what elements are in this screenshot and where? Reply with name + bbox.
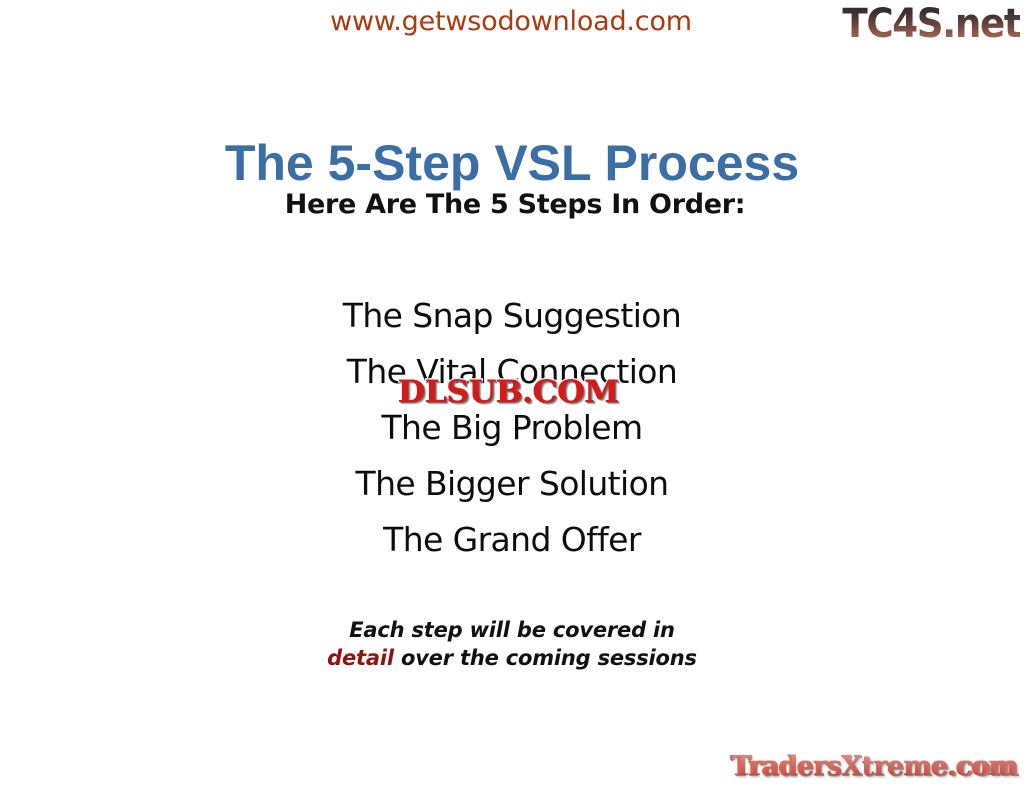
tradersxtreme-logo-outline: TradersXtreme.com [730,751,1018,782]
list-item: The Bigger Solution [0,456,1024,512]
footer-note: Each step will be covered in detail over… [0,616,1024,672]
page-title: The 5-Step VSL Process [0,134,1024,192]
footer-note-line-1: Each step will be covered in [0,616,1024,644]
steps-list: The Snap Suggestion The Vital Connection… [0,288,1024,568]
list-item: The Snap Suggestion [0,288,1024,344]
footer-note-line-2-rest: over the coming sessions [394,646,697,670]
slide-canvas: www.getwsodownload.com TC4S.net TC4S.net… [0,0,1024,791]
footer-note-line-2: detail over the coming sessions [0,644,1024,672]
dlsub-watermark: DLSUB.COM DLSUB.COM [366,375,650,409]
tc4s-brand-logo: TC4S.net [842,0,1020,48]
footer-note-highlight: detail [327,646,394,670]
dlsub-watermark-text: DLSUB.COM [398,374,619,410]
list-item: The Grand Offer [0,512,1024,568]
tradersxtreme-logo: TradersXtreme.com TradersXtreme.com [730,749,1018,785]
subtitle: Here Are The 5 Steps In Order: [3,189,1024,220]
